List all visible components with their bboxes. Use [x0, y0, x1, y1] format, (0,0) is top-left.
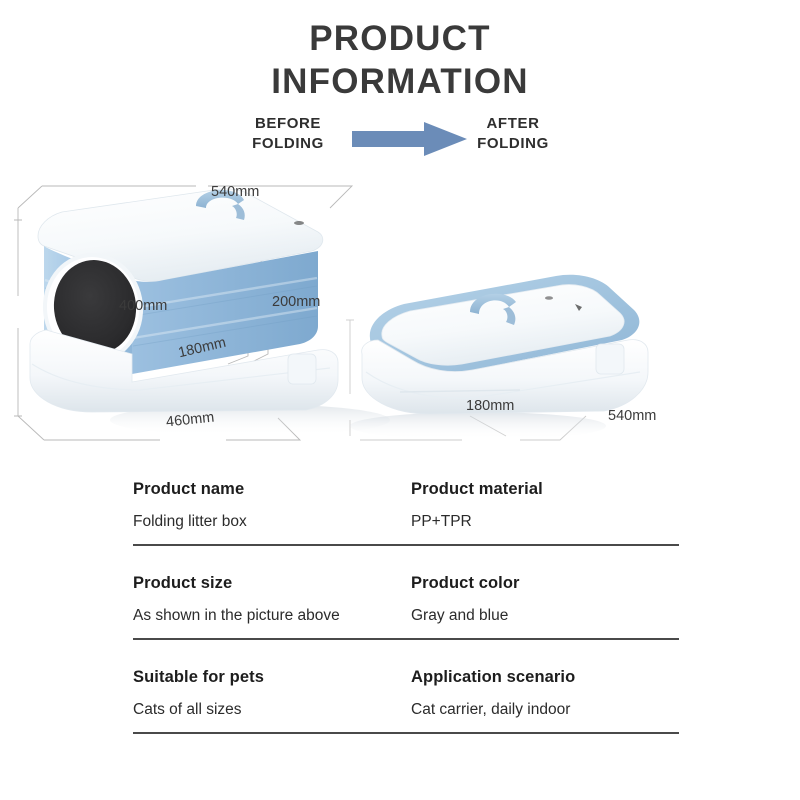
page-title-line-1: PRODUCT [0, 18, 800, 61]
row-divider [133, 544, 679, 546]
spec-label: Product material [411, 480, 671, 500]
folded-latch-tab-icon [596, 344, 624, 374]
before-folding-label: BEFORE FOLDING [213, 114, 363, 154]
before-folding-line-2: FOLDING [213, 134, 363, 154]
folded-product [350, 275, 648, 440]
spec-value: Cats of all sizes [133, 701, 398, 720]
dimension-label-width-folded: 540mm [608, 408, 656, 424]
spec-cell-right: Application scenario Cat carrier, daily … [406, 668, 679, 719]
spec-value: Folding litter box [133, 513, 398, 532]
after-folding-line-1: AFTER [438, 114, 588, 134]
spec-cell-left: Product size As shown in the picture abo… [133, 574, 406, 625]
unfolded-product [30, 189, 390, 436]
table-row: Product size As shown in the picture abo… [133, 574, 679, 640]
spec-cell-left: Product name Folding litter box [133, 480, 406, 531]
dimension-label-height-folded: 180mm [466, 398, 514, 414]
specification-table: Product name Folding litter box Product … [133, 480, 679, 762]
row-divider [133, 732, 679, 734]
spec-cell-right: Product color Gray and blue [406, 574, 679, 625]
spec-label: Product name [133, 480, 398, 500]
spec-value: Cat carrier, daily indoor [411, 701, 671, 720]
spec-value: PP+TPR [411, 513, 671, 532]
table-row: Suitable for pets Cats of all sizes Appl… [133, 668, 679, 734]
after-folding-label: AFTER FOLDING [438, 114, 588, 154]
vent-slot-icon [294, 221, 304, 225]
product-illustration: 540mm 400mm 200mm 180mm 460mm 180mm 540m… [0, 168, 800, 468]
latch-tab-icon [288, 354, 316, 384]
page-title-line-2: INFORMATION [0, 61, 800, 104]
page-title: PRODUCT INFORMATION [0, 0, 800, 103]
folded-vent-icon [545, 296, 553, 300]
spec-label: Product size [133, 574, 398, 594]
spec-label: Product color [411, 574, 671, 594]
after-folding-line-2: FOLDING [438, 134, 588, 154]
row-divider [133, 638, 679, 640]
folding-stage-row: BEFORE FOLDING AFTER FOLDING [0, 112, 800, 162]
spec-label: Application scenario [411, 668, 671, 688]
spec-value: Gray and blue [411, 607, 671, 626]
spec-cell-right: Product material PP+TPR [406, 480, 679, 531]
dimension-label-width-unfolded: 540mm [211, 184, 259, 200]
spec-value: As shown in the picture above [133, 607, 398, 626]
table-row: Product name Folding litter box Product … [133, 480, 679, 546]
before-folding-line-1: BEFORE [213, 114, 363, 134]
spec-cell-left: Suitable for pets Cats of all sizes [133, 668, 406, 719]
spec-label: Suitable for pets [133, 668, 398, 688]
dimension-label-body-height-unfolded: 200mm [272, 294, 320, 310]
dimension-label-height-unfolded: 400mm [119, 298, 167, 314]
product-illustration-svg [0, 168, 800, 468]
